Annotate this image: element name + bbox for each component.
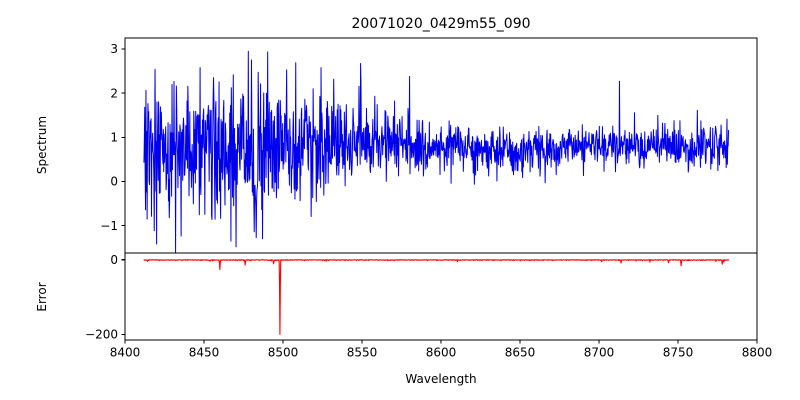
x-tick-label: 8550 [347, 346, 378, 360]
matplotlib-figure: 20071020_0429m55_090 −10123 Spectrum −20… [0, 0, 800, 400]
x-tick-label: 8600 [426, 346, 457, 360]
figure-canvas: 20071020_0429m55_090 −10123 Spectrum −20… [0, 0, 800, 400]
y-tick-label: 0 [110, 175, 118, 189]
y-tick-label: 3 [110, 42, 118, 56]
y-tick-label: 2 [110, 86, 118, 100]
x-tick-label: 8650 [505, 346, 536, 360]
x-axis-label: Wavelength [405, 372, 476, 386]
x-tick-label: 8700 [584, 346, 615, 360]
y-tick-label: −1 [100, 219, 118, 233]
spectrum-y-axis-label: Spectrum [35, 116, 49, 174]
x-tick-label: 8450 [189, 346, 220, 360]
x-tick-label: 8500 [268, 346, 299, 360]
y-tick-label: 1 [110, 131, 118, 145]
y-tick-label: 0 [110, 253, 118, 267]
error-y-axis-label: Error [35, 282, 49, 311]
x-tick-label: 8750 [663, 346, 694, 360]
page-title: 20071020_0429m55_090 [351, 16, 530, 32]
y-tick-label: −200 [85, 328, 118, 342]
x-tick-label: 8800 [742, 346, 773, 360]
x-tick-label: 8400 [110, 346, 141, 360]
